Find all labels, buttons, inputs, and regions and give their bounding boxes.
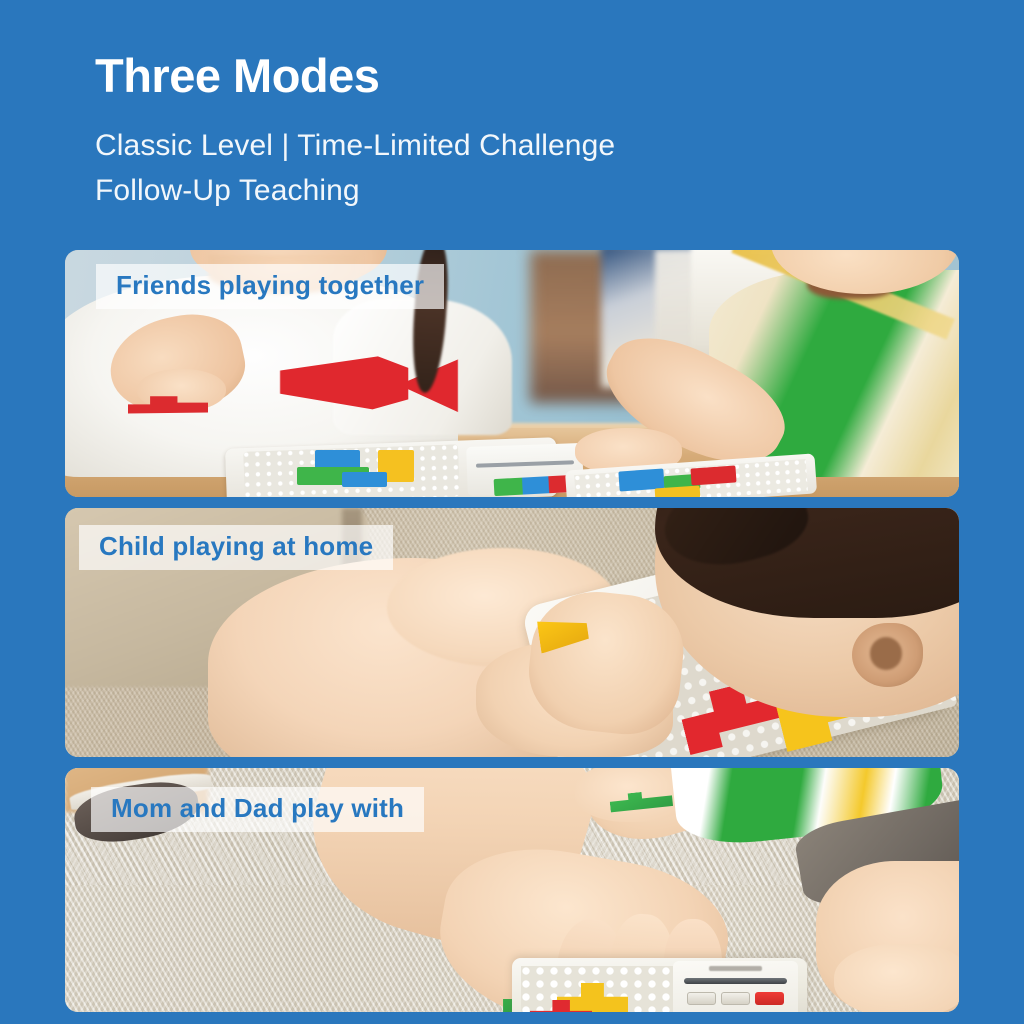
board-brand-logo [709,966,763,972]
subtitle-line-2: Follow-Up Teaching [95,168,915,214]
board-button-one[interactable] [687,992,716,1004]
board-card-slot [684,978,788,984]
caption-badge-parents: Mom and Dad play with [91,787,424,832]
child-resting-hand [834,944,959,1012]
promo-page: Three Modes Classic Level | Time-Limited… [0,0,1024,1024]
subtitle-line-1: Classic Level | Time-Limited Challenge [95,123,915,169]
yellow-piece-right-board [655,486,700,497]
photo-panel-parents: Mom and Dad play with [65,768,959,1012]
caption-badge-friends: Friends playing together [96,264,444,309]
caption-badge-home: Child playing at home [79,525,393,570]
photo-panel-home: Child playing at home [65,508,959,757]
boy-ear-inner [870,637,902,669]
board-button-two[interactable] [721,992,750,1004]
photo-panel-friends: Friends playing together [65,250,959,497]
board-button-power[interactable] [755,992,784,1004]
page-title: Three Modes [95,52,915,101]
header: Three Modes Classic Level | Time-Limited… [95,52,915,214]
page-subtitle: Classic Level | Time-Limited Challenge F… [95,123,915,214]
blue-piece-left-board-2 [342,472,387,487]
